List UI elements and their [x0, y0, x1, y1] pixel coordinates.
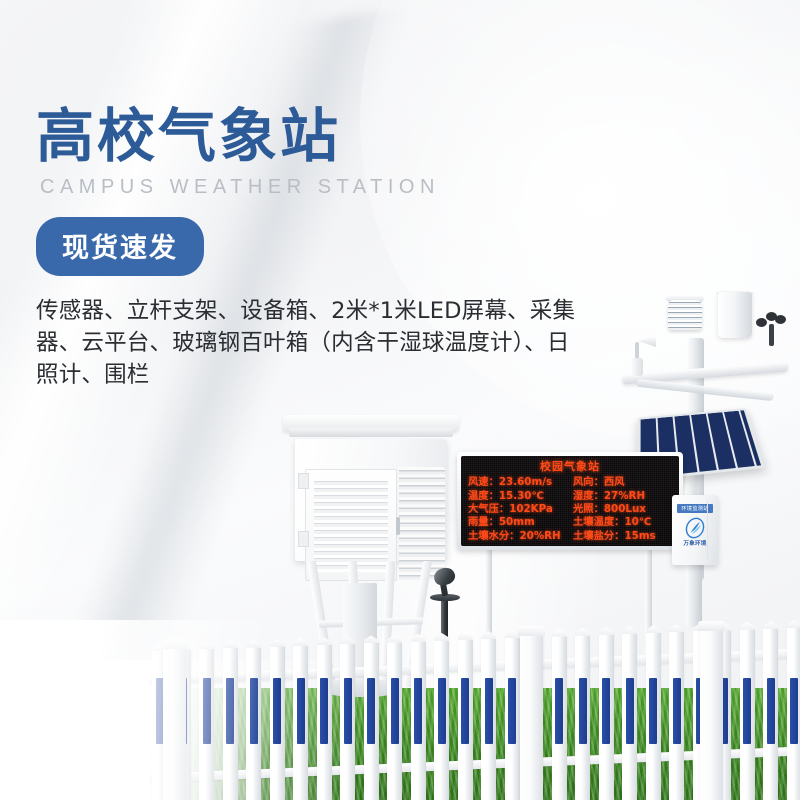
fence-picket-stripe [320, 678, 328, 744]
anemometer-stem [769, 324, 774, 346]
led-value: 15.30℃ [499, 490, 544, 502]
fence-picket [646, 632, 661, 800]
anemometer-icon [756, 312, 786, 346]
fence-picket-stripe [626, 678, 634, 744]
cabinet-body: 环境监测站 万象环境 [672, 495, 718, 565]
led-value: 15ms [624, 530, 655, 542]
fence-picket-stripe [579, 678, 587, 744]
fence-picket [458, 639, 473, 800]
screen-door-louvers [314, 478, 388, 572]
fence-picket-stripe [649, 678, 657, 744]
led-value: 10℃ [624, 516, 651, 528]
screen-roof-lower [289, 428, 453, 437]
fence-picket-stripe [344, 678, 352, 744]
fence-picket-stripe [767, 678, 775, 744]
screen-handle [396, 517, 400, 535]
fence-picket [669, 631, 684, 800]
fence-picket [740, 629, 755, 800]
led-display-panel[interactable]: 校园气象站 风速：23.60m/s 风向：西风 温度：15.30℃ 湿度：27%… [457, 452, 683, 550]
fence-post [520, 635, 543, 800]
led-reading-pressure: 大气压：102KPa [468, 503, 567, 516]
cabinet-door-seam [707, 501, 715, 559]
page-subtitle: CAMPUS WEATHER STATION [40, 176, 656, 199]
fence-picket [387, 642, 402, 800]
fence-picket-stripe [461, 678, 469, 744]
fence-picket [481, 638, 496, 800]
fence-picket [622, 633, 637, 800]
product-description: 传感器、立杆支架、设备箱、2米*1米LED屏幕、采集器、云平台、玻璃钢百叶箱（内… [36, 296, 591, 392]
led-label: 雨量： [468, 516, 499, 528]
fence-picket [763, 628, 778, 800]
fence-picket [317, 644, 332, 800]
anemometer-cup [756, 318, 767, 327]
fence-picket-stripe [391, 678, 399, 744]
product-banner: 高校气象站 CAMPUS WEATHER STATION 现货速发 传感器、立杆… [0, 0, 800, 800]
fence-picket-stripe [438, 678, 446, 744]
brand-logo-icon [684, 517, 706, 539]
fence-picket [505, 637, 520, 800]
led-label: 大气压： [468, 503, 509, 515]
led-title: 校园气象站 [468, 461, 672, 473]
led-value: 50mm [499, 516, 535, 528]
fence-picket-stripe [555, 678, 563, 744]
fence-post [700, 630, 723, 800]
led-label: 土壤水分： [468, 530, 519, 542]
led-value: 102KPa [509, 503, 553, 515]
led-reading-rainfall: 雨量：50mm [468, 516, 567, 529]
led-reading-temperature: 温度：15.30℃ [468, 490, 567, 503]
screen-body [295, 439, 447, 561]
led-reading-illuminance: 光照：800Lux [573, 503, 672, 516]
screen-hinge-top [298, 473, 309, 489]
led-value: 23.60m/s [499, 476, 552, 488]
led-screen: 校园气象站 风速：23.60m/s 风向：西风 温度：15.30℃ 湿度：27%… [461, 456, 679, 546]
radiation-shield-icon [668, 300, 702, 330]
fence-fade-overlay [0, 620, 310, 800]
led-label: 土壤温度： [573, 516, 624, 528]
stevenson-screen [295, 415, 447, 565]
sun-recorder-head [432, 565, 457, 587]
led-label: 湿度： [573, 490, 604, 502]
fence-picket-stripe [485, 678, 493, 744]
led-reading-soil-salinity: 土壤盐分：15ms [573, 530, 672, 543]
fence-picket [340, 643, 355, 800]
led-reading-wind-speed: 风速：23.60m/s [468, 476, 567, 489]
equipment-cabinet: 环境监测站 万象环境 [672, 495, 718, 565]
fence-picket [552, 636, 567, 800]
fence-picket [364, 642, 379, 800]
led-label: 光照： [573, 503, 604, 515]
fence-picket-stripe [790, 678, 798, 744]
anemometer-cup [766, 312, 777, 321]
led-value: 800Lux [604, 503, 646, 515]
fence-picket [575, 635, 590, 800]
led-label: 温度： [468, 490, 499, 502]
screen-hinge-bottom [298, 531, 309, 547]
stock-badge[interactable]: 现货速发 [36, 217, 204, 276]
fence [0, 620, 800, 800]
mast-crossarm-lower [636, 379, 774, 401]
rain-gauge-icon [718, 292, 752, 338]
fence-picket [434, 640, 449, 800]
fence-picket [787, 627, 800, 800]
led-label: 风速： [468, 476, 499, 488]
led-reading-soil-temperature: 土壤温度：10℃ [573, 516, 672, 529]
led-readings-grid: 风速：23.60m/s 风向：西风 温度：15.30℃ 湿度：27%RH 大气压… [468, 476, 672, 543]
led-frame: 校园气象站 风速：23.60m/s 风向：西风 温度：15.30℃ 湿度：27%… [457, 452, 683, 550]
fence-picket-stripe [673, 678, 681, 744]
fence-picket [411, 641, 426, 800]
led-reading-humidity: 湿度：27%RH [573, 490, 672, 503]
fence-picket-stripe [508, 678, 516, 744]
led-reading-soil-moisture: 土壤水分：20%RH [468, 530, 567, 543]
fence-picket-stripe [414, 678, 422, 744]
led-value: 西风 [604, 476, 625, 488]
headline-block: 高校气象站 CAMPUS WEATHER STATION 现货速发 传感器、立杆… [36, 106, 656, 415]
fence-picket-stripe [367, 678, 375, 744]
led-value: 27%RH [604, 490, 645, 502]
fence-picket-stripe [602, 678, 610, 744]
fence-picket-stripe [743, 678, 751, 744]
led-label: 风向： [573, 476, 604, 488]
page-title: 高校气象站 [36, 106, 656, 166]
led-value: 20%RH [519, 530, 560, 542]
led-reading-wind-direction: 风向：西风 [573, 476, 672, 489]
cabinet-pole [686, 563, 702, 627]
fence-picket [599, 634, 614, 800]
led-label: 土壤盐分： [573, 530, 624, 542]
